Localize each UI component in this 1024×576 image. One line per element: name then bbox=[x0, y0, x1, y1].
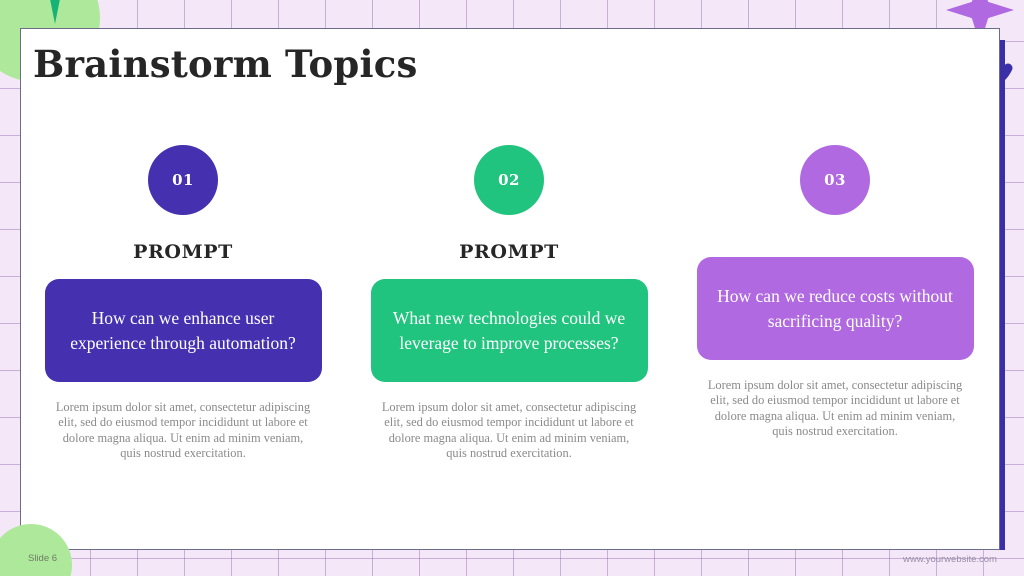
topic-label: PROMPT bbox=[459, 241, 559, 263]
topic-question-box: What new technologies could we leverage … bbox=[371, 279, 648, 382]
topic-number-badge: 01 bbox=[148, 145, 218, 215]
topic-column-3: 03 How can we reduce costs without sacri… bbox=[672, 145, 998, 461]
topic-number-badge: 03 bbox=[800, 145, 870, 215]
topic-columns: 01 PROMPT How can we enhance user experi… bbox=[20, 145, 1000, 461]
topic-column-2: 02 PROMPT What new technologies could we… bbox=[346, 145, 672, 461]
topic-column-1: 01 PROMPT How can we enhance user experi… bbox=[20, 145, 346, 461]
slide-canvas: Brainstorm Topics 01 PROMPT How can we e… bbox=[0, 0, 1024, 576]
website-url: www.yourwebsite.com bbox=[903, 554, 997, 565]
page-title: Brainstorm Topics bbox=[33, 42, 417, 86]
topic-question-box: How can we enhance user experience throu… bbox=[45, 279, 322, 382]
topic-body-text: Lorem ipsum dolor sit amet, consectetur … bbox=[53, 400, 313, 461]
topic-body-text: Lorem ipsum dolor sit amet, consectetur … bbox=[705, 378, 965, 439]
topic-question-box: How can we reduce costs without sacrific… bbox=[697, 257, 974, 360]
topic-body-text: Lorem ipsum dolor sit amet, consectetur … bbox=[379, 400, 639, 461]
topic-number-badge: 02 bbox=[474, 145, 544, 215]
slide-number: Slide 6 bbox=[28, 553, 57, 564]
topic-label: PROMPT bbox=[133, 241, 233, 263]
